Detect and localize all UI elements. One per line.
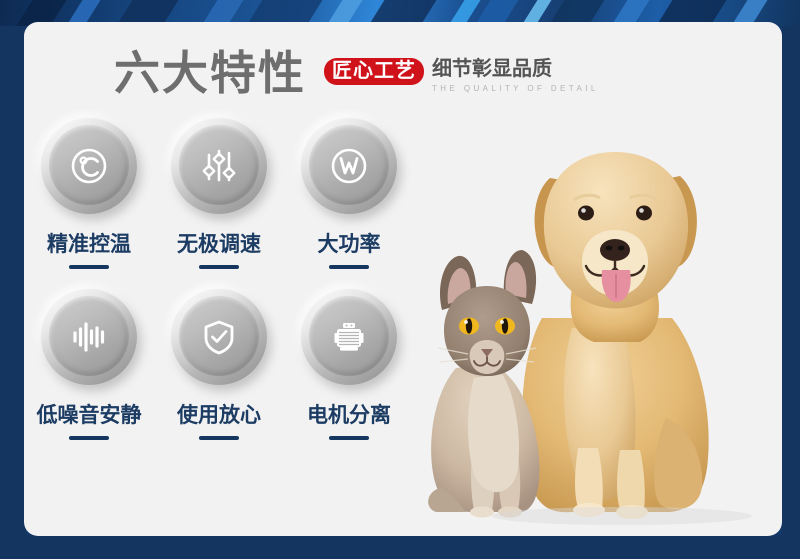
golden-retriever-dog [522,152,709,519]
craftsmanship-badge: 匠心工艺 [324,58,424,85]
badge-text-block: 细节彰显品质 THE QUALITY OF DETAIL [432,58,599,93]
feature-item-safety[interactable]: 使用放心 [154,289,284,440]
feature-grid: 精准控温 [24,118,444,440]
feature-item-motor[interactable]: 电机分离 [284,289,414,440]
feature-label-motor: 电机分离 [307,399,391,429]
label-underline [199,265,239,269]
knob-safety [171,289,267,385]
burmese-cat [428,250,539,518]
knob-motor [301,289,397,385]
feature-item-speed[interactable]: 无极调速 [154,118,284,269]
feature-row-2: 低噪音安静 使用放心 [24,289,444,440]
frame-bottom-border [0,535,800,559]
badge-subtitle-cn: 细节彰显品质 [432,58,599,81]
content-card: 六大特性 匠心工艺 细节彰显品质 THE QUALITY OF DETAIL [24,22,782,536]
knob-speed [171,118,267,214]
shield-check-icon [193,311,245,363]
celsius-icon [63,140,115,192]
watt-icon [323,140,375,192]
knob-temperature [41,118,137,214]
label-underline [329,436,369,440]
feature-label-power: 大功率 [318,228,381,258]
feature-label-speed: 无极调速 [177,228,261,258]
badge-subtitle-en: THE QUALITY OF DETAIL [432,84,599,93]
label-underline [199,436,239,440]
motor-icon [323,311,375,363]
feature-item-low-noise[interactable]: 低噪音安静 [24,289,154,440]
feature-label-safety: 使用放心 [177,399,261,429]
header: 六大特性 匠心工艺 细节彰显品质 THE QUALITY OF DETAIL [24,34,782,112]
knob-power [301,118,397,214]
frame-right-border [782,26,800,559]
soundwave-icon [63,311,115,363]
feature-label-low-noise: 低噪音安静 [37,399,142,429]
label-underline [329,265,369,269]
feature-label-temperature: 精准控温 [47,228,131,258]
frame-left-border [0,26,26,559]
knob-low-noise [41,289,137,385]
promo-banner: 六大特性 匠心工艺 细节彰显品质 THE QUALITY OF DETAIL [0,0,800,559]
feature-item-temperature[interactable]: 精准控温 [24,118,154,269]
dog-and-cat-photo [422,118,772,530]
feature-item-power[interactable]: 大功率 [284,118,414,269]
page-title: 六大特性 [114,50,306,96]
label-underline [69,265,109,269]
label-underline [69,436,109,440]
sliders-icon [193,140,245,192]
feature-row-1: 精准控温 [24,118,444,269]
quality-badge-group: 匠心工艺 细节彰显品质 THE QUALITY OF DETAIL [324,58,599,93]
